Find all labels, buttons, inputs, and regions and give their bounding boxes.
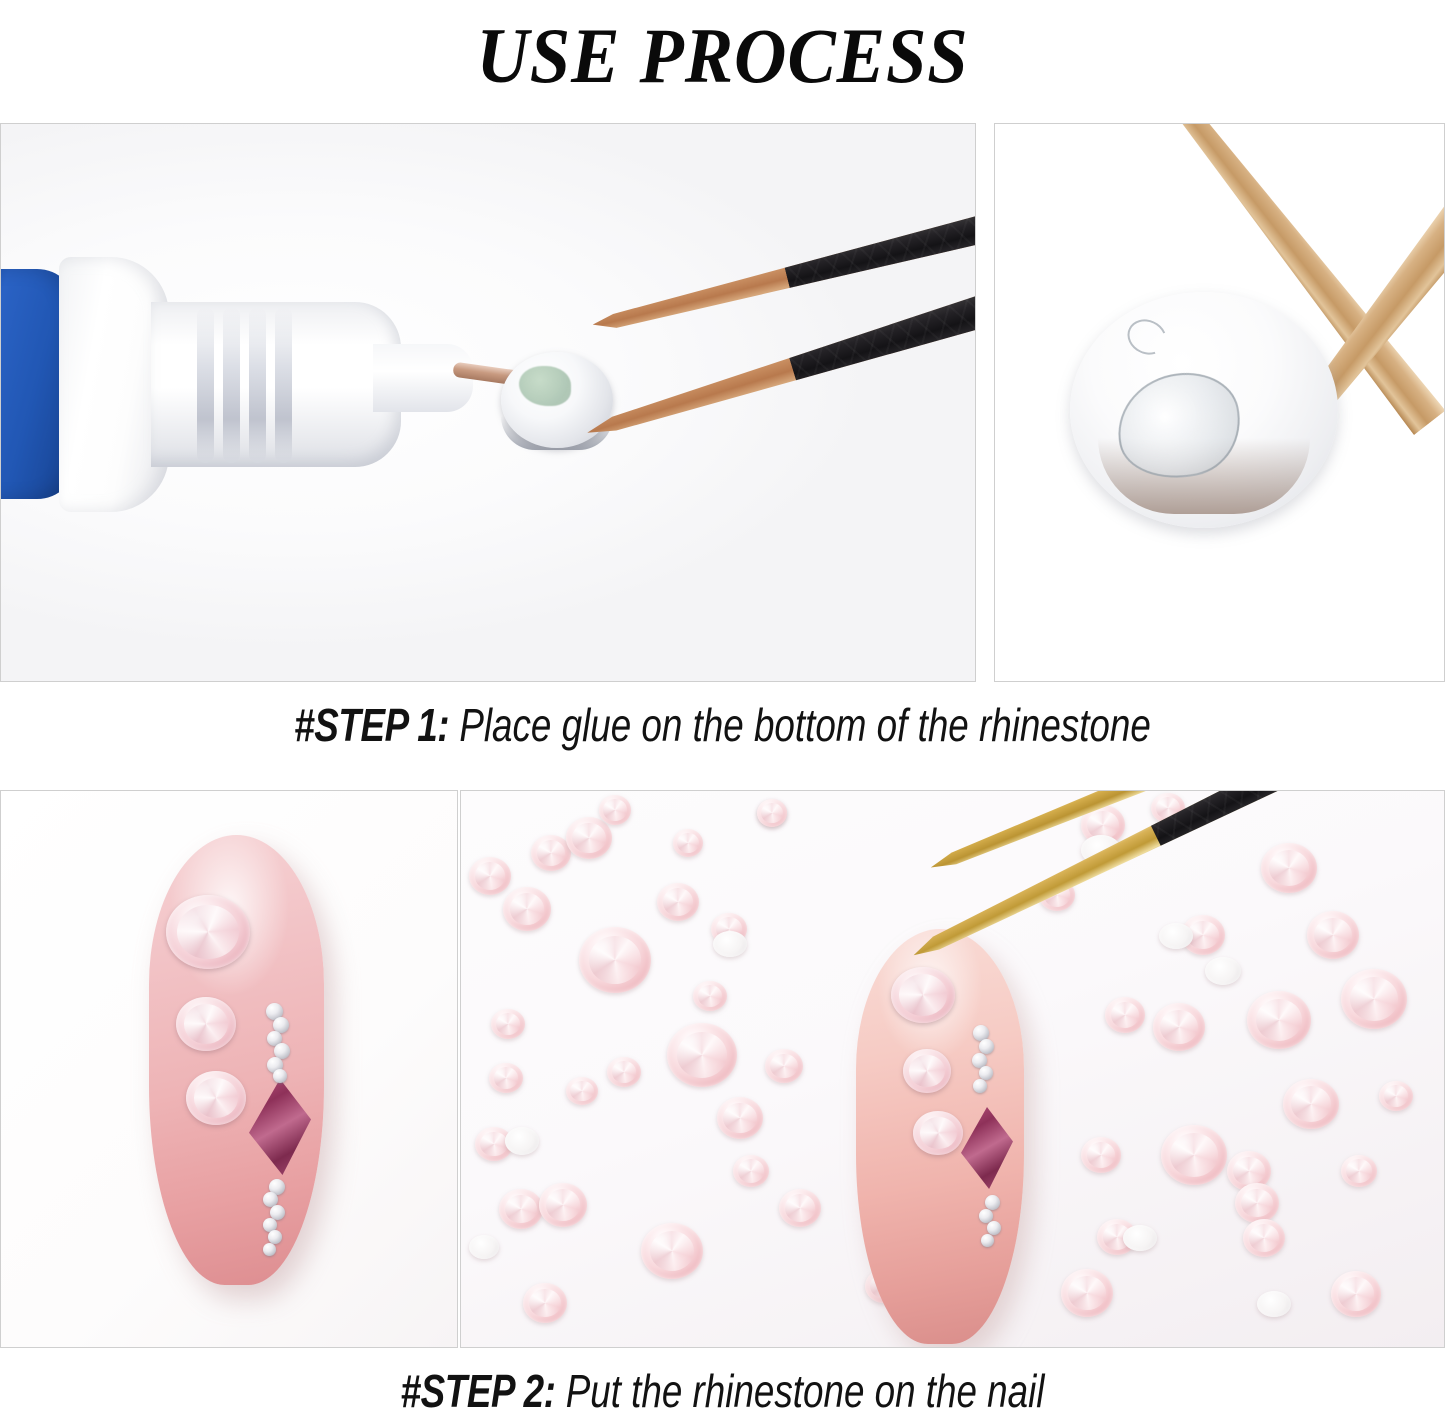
scattered-rhinestone bbox=[1247, 991, 1311, 1049]
step-1-label: #STEP 1: bbox=[294, 699, 449, 751]
scattered-rhinestone bbox=[1243, 1219, 1285, 1257]
scattered-rhinestone bbox=[1153, 1003, 1205, 1051]
scattered-rhinestone bbox=[579, 927, 651, 993]
nozzle-rib-icon bbox=[223, 307, 240, 463]
scattered-rhinestone bbox=[607, 1057, 641, 1087]
scattered-rhinestone bbox=[566, 817, 612, 859]
step-1-text: Place glue on the bottom of the rhinesto… bbox=[449, 699, 1151, 751]
scattered-rhinestone bbox=[523, 1283, 567, 1323]
scattered-rhinestone bbox=[1161, 1125, 1227, 1185]
scattered-rhinestone bbox=[779, 1189, 821, 1227]
scattered-rhinestone bbox=[489, 1063, 523, 1093]
step-1-caption: #STEP 1: Place glue on the bottom of the… bbox=[145, 698, 1301, 752]
scattered-rhinestone bbox=[1261, 843, 1317, 893]
step-2-caption: #STEP 2: Put the rhinestone on the nail bbox=[145, 1364, 1301, 1418]
round-rhinestone-large-icon bbox=[891, 967, 955, 1023]
scattered-rhinestone bbox=[1105, 997, 1145, 1033]
scattered-rhinestone bbox=[1379, 1081, 1413, 1111]
round-rhinestone-medium-icon bbox=[176, 997, 236, 1051]
scattered-rhinestone bbox=[717, 1097, 763, 1139]
scattered-rhinestone bbox=[566, 1077, 598, 1105]
scattered-rhinestone bbox=[733, 1155, 769, 1187]
scattered-rhinestone-back bbox=[1159, 923, 1193, 949]
scattered-rhinestone bbox=[531, 835, 571, 871]
step1-photo-right bbox=[994, 123, 1445, 682]
scattered-rhinestone-back bbox=[713, 931, 747, 957]
scattered-rhinestone bbox=[1235, 1183, 1279, 1223]
page-title: USE PROCESS bbox=[51, 0, 1395, 112]
scattered-rhinestone bbox=[673, 829, 703, 857]
round-rhinestone-medium-icon bbox=[903, 1049, 951, 1093]
round-rhinestone-small-icon bbox=[913, 1111, 963, 1155]
scattered-rhinestone bbox=[1061, 1269, 1113, 1317]
nozzle-rib-icon bbox=[249, 307, 266, 463]
step1-photo-left bbox=[0, 123, 976, 682]
step2-photo-left bbox=[0, 790, 458, 1348]
step2-photo-right bbox=[460, 790, 1445, 1348]
scattered-rhinestone bbox=[1307, 911, 1359, 959]
scattered-rhinestone bbox=[765, 1049, 803, 1083]
glue-bottle-tip-icon bbox=[373, 344, 473, 412]
scattered-rhinestone bbox=[1081, 1137, 1121, 1173]
step-2-text: Put the rhinestone on the nail bbox=[555, 1365, 1044, 1417]
rhinestone-with-glue-icon bbox=[501, 352, 613, 448]
scattered-rhinestone bbox=[693, 981, 727, 1011]
decorated-nail-icon bbox=[149, 835, 324, 1285]
scattered-rhinestone bbox=[757, 799, 787, 827]
scattered-rhinestone bbox=[657, 883, 699, 921]
scattered-rhinestone-back bbox=[469, 1235, 499, 1259]
scattered-rhinestone bbox=[1331, 1271, 1381, 1317]
scattered-rhinestone-back bbox=[1123, 1225, 1157, 1251]
round-rhinestone-large-icon bbox=[166, 895, 250, 969]
scattered-rhinestone bbox=[1283, 1079, 1339, 1129]
nozzle-rib-icon bbox=[197, 307, 214, 463]
scattered-rhinestone-back bbox=[505, 1127, 539, 1155]
scattered-rhinestone bbox=[1341, 969, 1407, 1029]
scattered-rhinestone bbox=[503, 887, 551, 931]
step-2-label: #STEP 2: bbox=[401, 1365, 556, 1417]
scattered-rhinestone-back bbox=[1257, 1291, 1291, 1317]
scattered-rhinestone bbox=[641, 1223, 703, 1279]
scattered-rhinestone bbox=[491, 1009, 525, 1039]
nozzle-rib-icon bbox=[275, 307, 292, 463]
scattered-rhinestone bbox=[1341, 1155, 1377, 1187]
scattered-rhinestone bbox=[667, 1023, 737, 1087]
scattered-rhinestone bbox=[469, 857, 511, 895]
scattered-rhinestone bbox=[539, 1183, 587, 1227]
scattered-rhinestone-back bbox=[1205, 957, 1241, 985]
round-rhinestone-small-icon bbox=[186, 1071, 246, 1125]
scattered-rhinestone bbox=[499, 1189, 543, 1229]
scattered-rhinestone bbox=[599, 795, 631, 825]
